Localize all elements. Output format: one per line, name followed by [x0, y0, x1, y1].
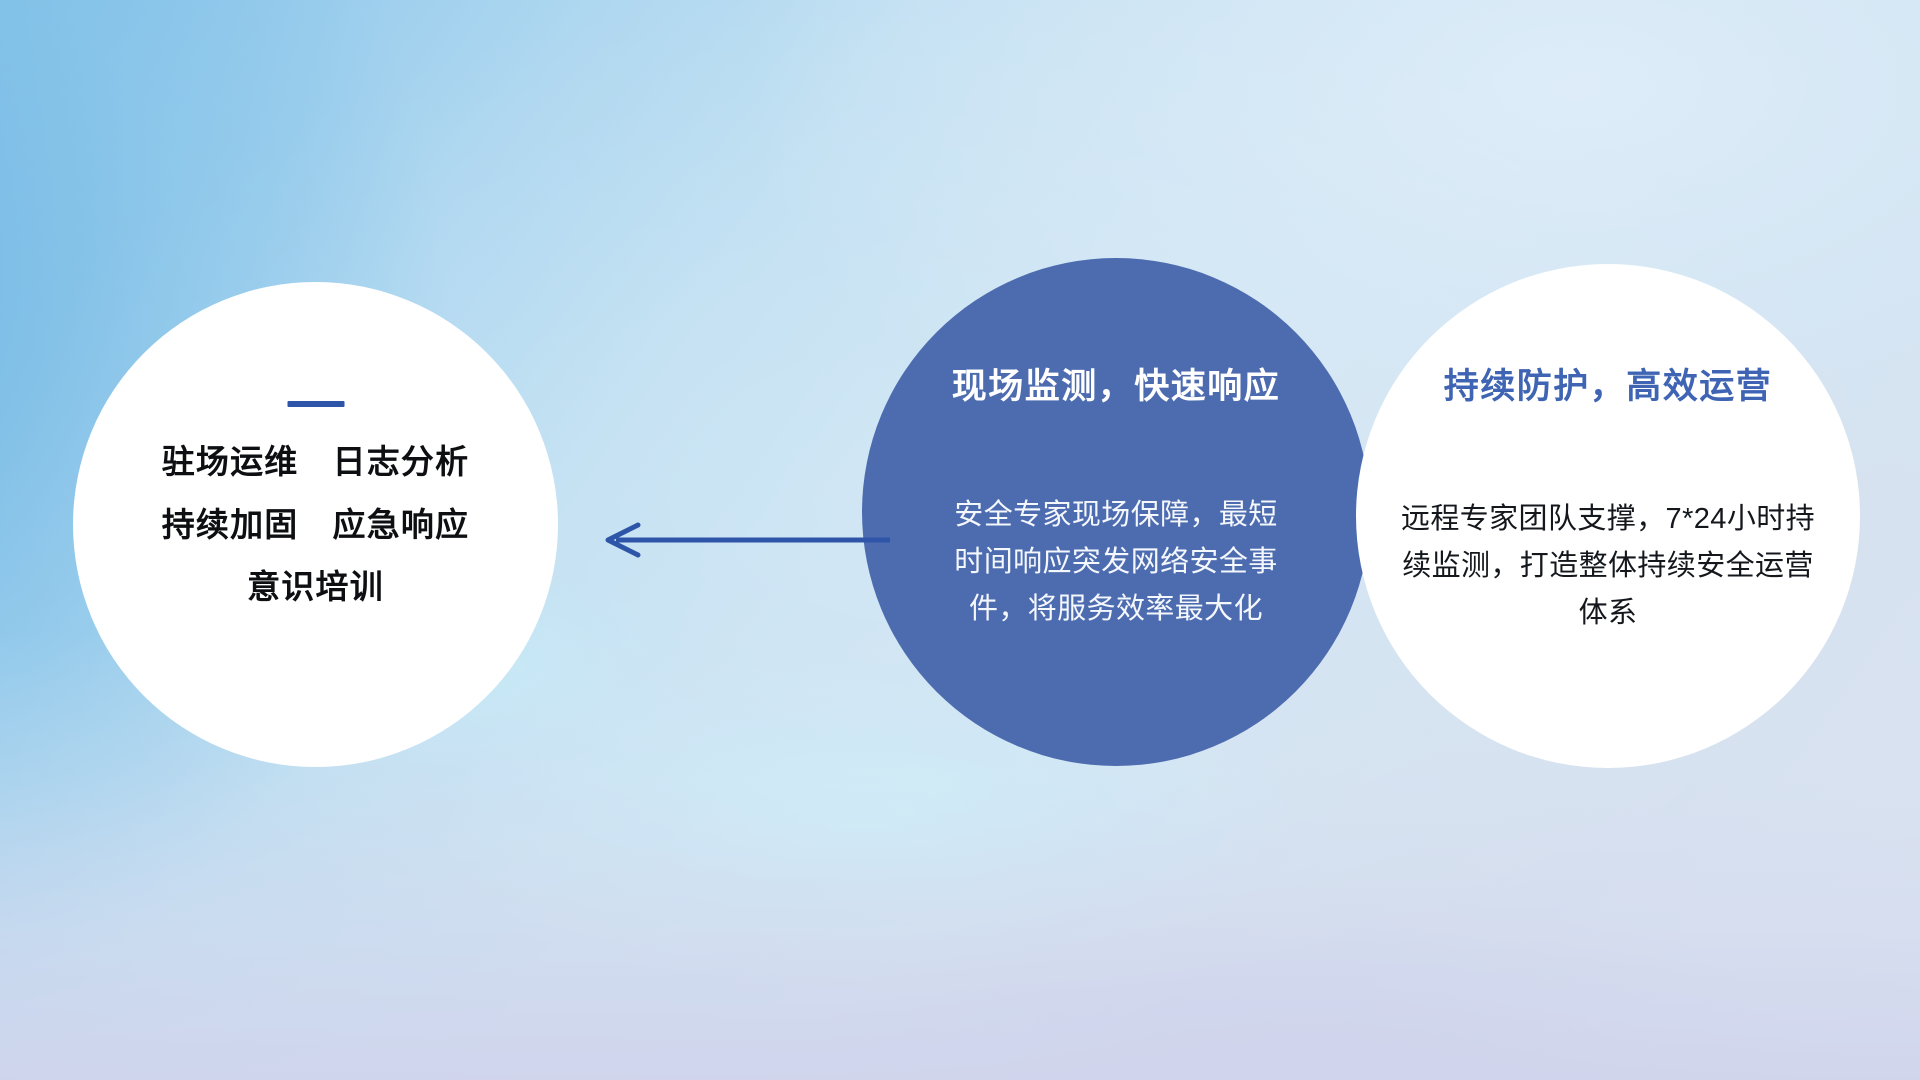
capability-tag-list: 驻场运维 日志分析 持续加固 应急响应 意识培训	[73, 445, 558, 605]
connector-arrow	[600, 516, 890, 564]
capability-tag[interactable]: 意识培训	[247, 570, 384, 605]
center-circle-content: 现场监测，快速响应 安全专家现场保障，最短时间响应突发网络安全事件，将服务效率最…	[862, 258, 1370, 766]
capability-tag[interactable]: 驻场运维	[162, 445, 299, 480]
capability-tag-row: 持续加固 应急响应	[162, 508, 470, 543]
center-card-title: 现场监测，快速响应	[862, 368, 1370, 407]
capability-tag[interactable]: 应急响应	[333, 508, 470, 543]
capability-tag[interactable]: 日志分析	[333, 445, 470, 480]
horizontal-dash-icon	[287, 401, 344, 407]
left-circle-content: 驻场运维 日志分析 持续加固 应急响应 意识培训	[73, 282, 558, 767]
center-card-body: 安全专家现场保障，最短时间响应突发网络安全事件，将服务效率最大化	[941, 492, 1291, 633]
right-circle-card[interactable]: 持续防护，高效运营 远程专家团队支撑，7*24小时持续监测，打造整体持续安全运营…	[1356, 264, 1860, 768]
right-card-body: 远程专家团队支撑，7*24小时持续监测，打造整体持续安全运营体系	[1399, 496, 1817, 637]
capability-tag-row: 驻场运维 日志分析	[162, 445, 470, 480]
right-circle-content: 持续防护，高效运营 远程专家团队支撑，7*24小时持续监测，打造整体持续安全运营…	[1356, 264, 1860, 768]
left-circle-card[interactable]: 驻场运维 日志分析 持续加固 应急响应 意识培训	[73, 282, 558, 767]
center-circle-card[interactable]: 现场监测，快速响应 安全专家现场保障，最短时间响应突发网络安全事件，将服务效率最…	[862, 258, 1370, 766]
capability-tag-row: 意识培训	[247, 570, 384, 605]
arrow-left-icon	[600, 516, 890, 564]
capability-tag[interactable]: 持续加固	[162, 508, 299, 543]
slide-canvas: 现场监测，快速响应 安全专家现场保障，最短时间响应突发网络安全事件，将服务效率最…	[0, 0, 1920, 1080]
right-card-title: 持续防护，高效运营	[1356, 368, 1860, 407]
